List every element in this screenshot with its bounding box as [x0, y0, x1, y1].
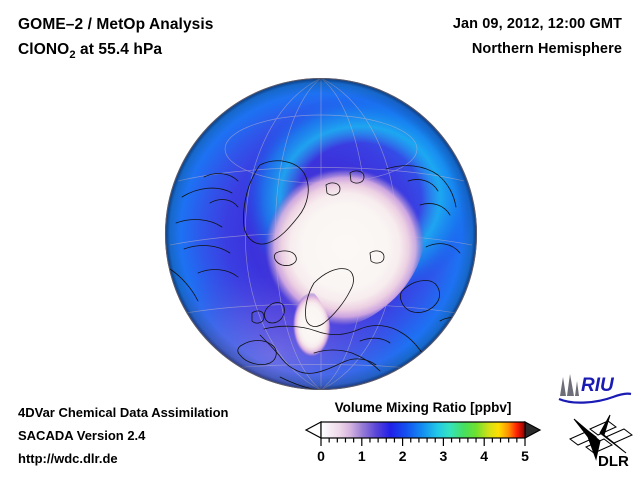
colorbar-ticks	[321, 438, 525, 446]
riu-wordmark: RIU	[581, 375, 615, 396]
colorbar: Volume Mixing Ratio [ppbv] 012345	[303, 400, 543, 468]
riu-towers-icon	[560, 374, 579, 396]
colorbar-tick-label: 1	[358, 448, 366, 464]
header-right: Jan 09, 2012, 12:00 GMT Northern Hemisph…	[453, 12, 622, 62]
riu-logo: RIU	[557, 372, 633, 406]
dlr-wordmark: DLR	[598, 453, 629, 469]
colorbar-tick-label: 2	[399, 448, 407, 464]
datetime-label: Jan 09, 2012, 12:00 GMT	[453, 12, 622, 37]
colorbar-gradient	[321, 422, 525, 438]
colorbar-left-arrow	[306, 422, 321, 438]
colorbar-scale	[303, 419, 543, 447]
colorbar-right-arrow	[525, 422, 540, 438]
credits-line-1: 4DVar Chemical Data Assimilation	[18, 401, 229, 424]
colorbar-tick-label: 3	[439, 448, 447, 464]
credits-block: 4DVar Chemical Data Assimilation SACADA …	[18, 401, 229, 470]
level-label: at 55.4 hPa	[76, 41, 163, 58]
header-left: GOME–2 / MetOp Analysis ClONO2 at 55.4 h…	[18, 12, 214, 68]
credits-line-2: SACADA Version 2.4	[18, 424, 229, 447]
colorbar-tick-labels: 012345	[303, 448, 543, 468]
credits-line-3: http://wdc.dlr.de	[18, 447, 229, 470]
dlr-logo: DLR	[566, 413, 636, 469]
colorbar-tick-label: 5	[521, 448, 529, 464]
colorbar-title: Volume Mixing Ratio [ppbv]	[303, 400, 543, 415]
species-label: ClONO	[18, 41, 69, 58]
colorbar-tick-label: 0	[317, 448, 325, 464]
globe-map	[164, 77, 478, 391]
limb-shading	[165, 78, 477, 390]
species-level-title: ClONO2 at 55.4 hPa	[18, 37, 214, 68]
analysis-title: GOME–2 / MetOp Analysis	[18, 12, 214, 37]
hemisphere-label: Northern Hemisphere	[453, 37, 622, 62]
colorbar-tick-label: 4	[480, 448, 488, 464]
